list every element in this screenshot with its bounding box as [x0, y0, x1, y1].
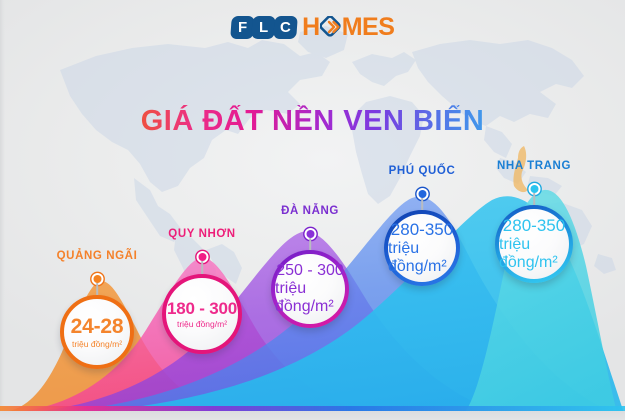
price-value-quang-ngai: 24-28 — [71, 316, 124, 337]
price-unit-quang-ngai: triệu đồng/m² — [72, 340, 122, 349]
price-unit-quy-nhon: triệu đồng/m² — [177, 320, 227, 329]
logo-word-h: H — [302, 13, 320, 42]
brand-logo[interactable]: F L C H MES — [0, 11, 625, 43]
price-value-nha-trang: 280-350 — [503, 216, 565, 236]
logo-tile-l-letter: L — [259, 19, 268, 36]
city-label-nha-trang: NHA TRANG — [497, 160, 571, 172]
logo-tile-f: F — [230, 16, 255, 39]
price-bubble-da-nang[interactable]: 250 - 300 triệu đồng/m² — [271, 250, 349, 328]
city-label-phu-quoc: PHÚ QUỐC — [389, 165, 456, 177]
city-marker-phu-quoc[interactable]: PHÚ QUỐC 280-350 triệu đồng/m² — [368, 165, 476, 285]
page-title: GIÁ ĐẤT NỀN VEN BIỂN — [0, 105, 625, 138]
logo-tile-f-letter: F — [238, 19, 247, 36]
logo-tile-l: L — [251, 16, 276, 39]
price-value-da-nang: 250 - 300 — [276, 262, 344, 280]
city-marker-da-nang[interactable]: ĐÀ NẴNG 250 - 300 triệu đồng/m² — [256, 205, 364, 327]
price-unit-nha-trang: triệu đồng/m² — [499, 236, 569, 272]
city-label-quang-ngai: QUẢNG NGÃI — [57, 250, 138, 262]
price-unit-da-nang: triệu đồng/m² — [275, 280, 345, 316]
logo-tiles: F L C — [231, 16, 296, 39]
price-bubble-quang-ngai[interactable]: 24-28 triệu đồng/m² — [60, 295, 134, 369]
city-marker-quy-nhon[interactable]: QUY NHƠN 180 - 300 triệu đồng/m² — [148, 228, 256, 353]
price-value-quy-nhon: 180 - 300 — [167, 300, 237, 317]
infographic-canvas: QUẢNG NGÃI 24-28 triệu đồng/m² QUY NHƠN … — [0, 0, 625, 420]
price-unit-phu-quoc: triệu đồng/m² — [388, 240, 456, 276]
logo-word-mes: MES — [342, 13, 395, 42]
logo-tile-c: C — [273, 16, 298, 39]
price-bubble-quy-nhon[interactable]: 180 - 300 triệu đồng/m² — [162, 274, 242, 354]
bottom-strip — [0, 411, 625, 420]
city-label-quy-nhon: QUY NHƠN — [168, 228, 235, 240]
diamond-chevron-icon — [320, 16, 342, 38]
city-marker-quang-ngai[interactable]: QUẢNG NGÃI 24-28 triệu đồng/m² — [46, 250, 148, 370]
price-bubble-nha-trang[interactable]: 280-350 triệu đồng/m² — [495, 205, 573, 283]
logo-wordmark: H MES — [302, 13, 394, 42]
city-marker-nha-trang[interactable]: NHA TRANG 280-350 triệu đồng/m² — [478, 160, 590, 280]
logo-tile-c-letter: C — [280, 19, 291, 36]
city-label-da-nang: ĐÀ NẴNG — [281, 205, 339, 217]
price-value-phu-quoc: 280-350 — [391, 220, 453, 240]
price-bubble-phu-quoc[interactable]: 280-350 triệu đồng/m² — [384, 210, 460, 286]
